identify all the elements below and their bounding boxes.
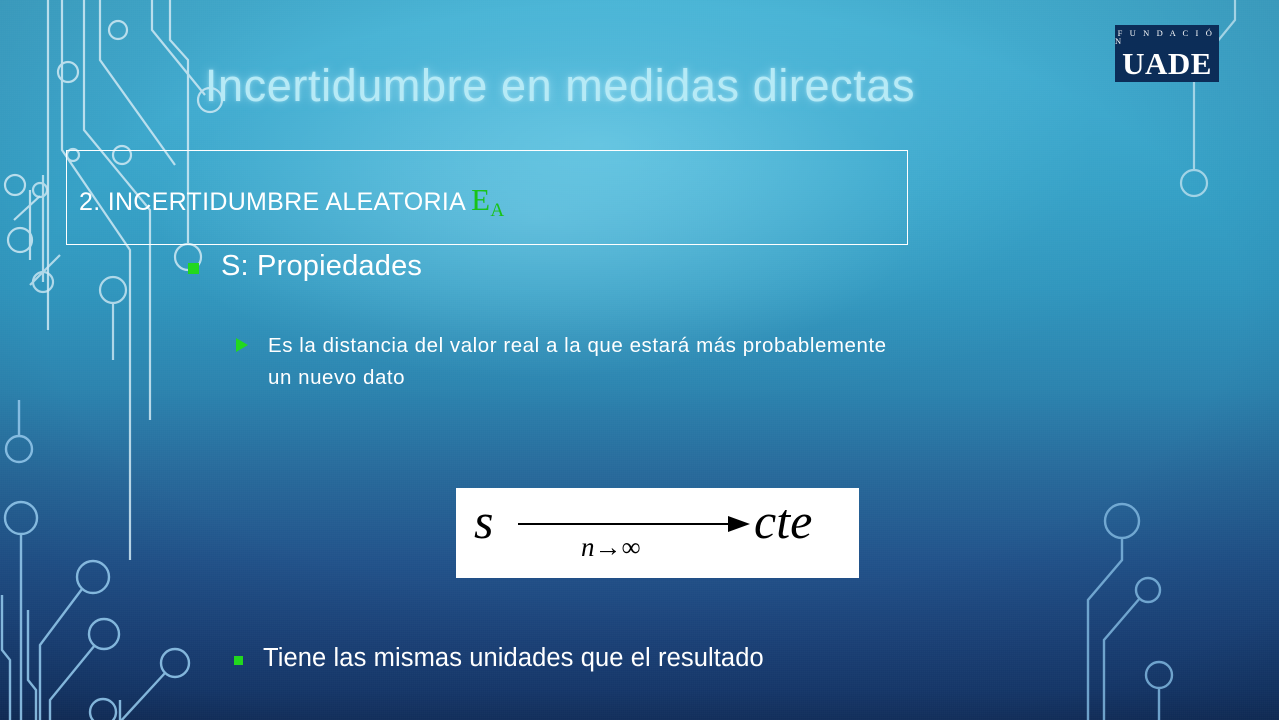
bullet-distance-label: Es la distancia del valor real a la que … (268, 330, 908, 394)
formula-image: s n→∞ cte (456, 488, 859, 578)
bullet-units: Tiene las mismas unidades que el resulta… (234, 644, 764, 673)
arrow-head (728, 516, 750, 532)
bullet-distance: Es la distancia del valor real a la que … (236, 330, 908, 394)
formula-limit-arrow: → (595, 532, 622, 562)
bullet-properties: S: Propiedades (188, 250, 422, 283)
bullet-properties-label: S: Propiedades (221, 250, 422, 283)
formula-content: s n→∞ cte (456, 488, 859, 578)
formula-limit-value: ∞ (622, 532, 641, 562)
logo-uade-text: UADE (1122, 48, 1212, 79)
symbol-ea: EA (471, 182, 504, 217)
formula-right-term: cte (754, 496, 812, 546)
formula-limit-variable: n (581, 532, 595, 562)
bullet-units-label: Tiene las mismas unidades que el resulta… (263, 644, 764, 673)
symbol-ea-base: E (471, 182, 490, 217)
triangle-bullet-icon (236, 338, 248, 352)
formula-limit: n→∞ (581, 534, 641, 561)
uade-logo: F U N D A C I Ó N UADE (1115, 25, 1219, 82)
formula-arrow-icon (518, 523, 750, 525)
heading-label: 2. INCERTIDUMBRE ALEATORIAEA (79, 182, 504, 222)
square-bullet-icon (188, 263, 199, 274)
heading-label-text: 2. INCERTIDUMBRE ALEATORIA (79, 188, 466, 216)
slide-canvas: F U N D A C I Ó N UADE Incertidumbre en … (0, 0, 1279, 720)
symbol-ea-subscript: A (490, 200, 504, 221)
logo-fundacion-text: F U N D A C I Ó N (1115, 29, 1219, 46)
formula-left-term: s (474, 496, 493, 546)
slide-title: Incertidumbre en medidas directas (60, 60, 1060, 112)
square-bullet-icon-small (234, 656, 243, 665)
arrow-shaft (518, 523, 734, 525)
